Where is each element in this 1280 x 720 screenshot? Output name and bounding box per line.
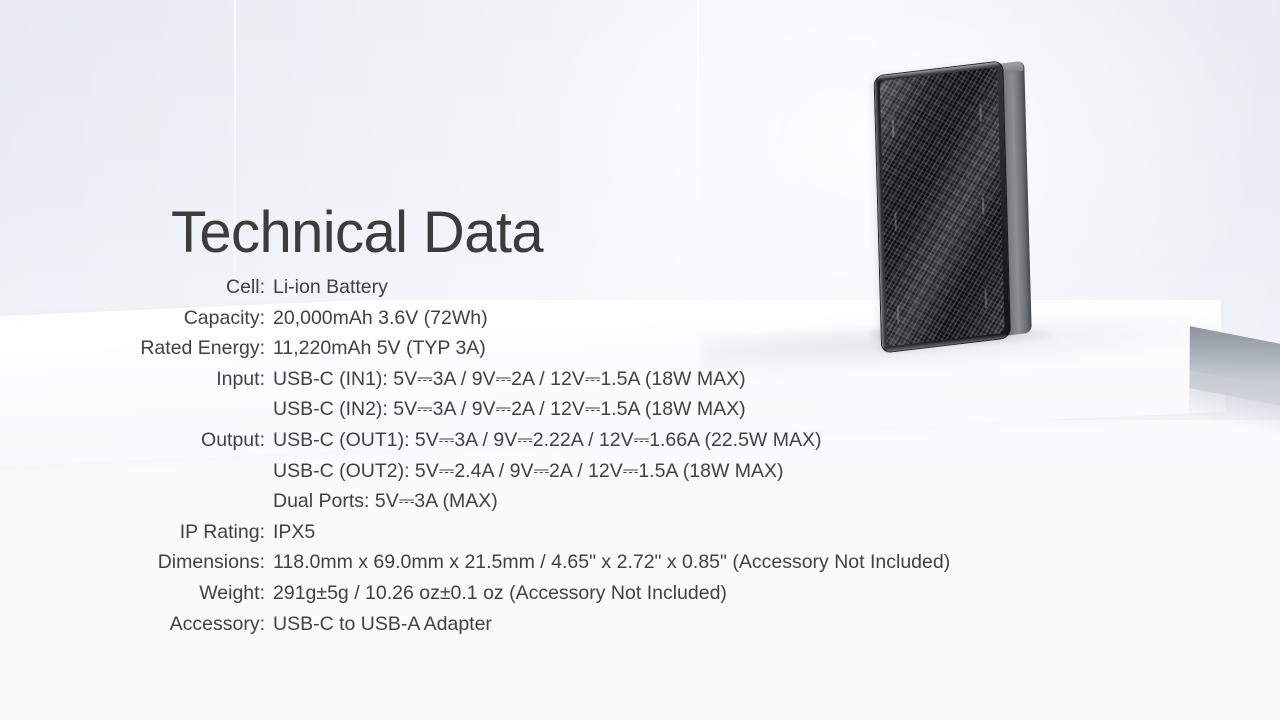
spec-label — [0, 486, 269, 517]
spec-value: 11,220mAh 5V (TYP 3A) — [269, 333, 1100, 364]
table-row: Capacity: 20,000mAh 3.6V (72Wh) — [0, 303, 1100, 334]
technical-data-rows: Cell: Li-ion Battery Capacity: 20,000mAh… — [0, 272, 1100, 639]
spec-value: Dual Ports: 5V⎓3A (MAX) — [269, 486, 1100, 517]
table-row: Output: USB-C (OUT1): 5V⎓3A / 9V⎓2.22A /… — [0, 425, 1100, 456]
spec-value: Li-ion Battery — [269, 272, 1100, 303]
table-row: Cell: Li-ion Battery — [0, 272, 1100, 303]
spec-value: USB-C (IN1): 5V⎓3A / 9V⎓2A / 12V⎓1.5A (1… — [269, 364, 1100, 395]
spec-label: Capacity: — [0, 303, 269, 334]
table-row: USB-C (OUT2): 5V⎓2.4A / 9V⎓2A / 12V⎓1.5A… — [0, 456, 1100, 487]
table-row: IP Rating: IPX5 — [0, 517, 1100, 548]
table-row: Dimensions: 118.0mm x 69.0mm x 21.5mm / … — [0, 547, 1100, 578]
table-row: Input: USB-C (IN1): 5V⎓3A / 9V⎓2A / 12V⎓… — [0, 364, 1100, 395]
spec-value: USB-C (OUT2): 5V⎓2.4A / 9V⎓2A / 12V⎓1.5A… — [269, 456, 1100, 487]
product-spec-scene: Technical Data Cell: Li-ion Battery Capa… — [0, 0, 1280, 720]
backdrop-seam-right — [697, 0, 699, 300]
spec-value: USB-C to USB-A Adapter — [269, 609, 1100, 640]
spec-label: Rated Energy: — [0, 333, 269, 364]
table-row: Accessory: USB-C to USB-A Adapter — [0, 609, 1100, 640]
spec-value: USB-C (IN2): 5V⎓3A / 9V⎓2A / 12V⎓1.5A (1… — [269, 394, 1100, 425]
spec-label: Cell: — [0, 272, 269, 303]
page-title: Technical Data — [171, 204, 543, 262]
spec-label: Output: — [0, 425, 269, 456]
table-row: USB-C (IN2): 5V⎓3A / 9V⎓2A / 12V⎓1.5A (1… — [0, 394, 1100, 425]
technical-data-table: Cell: Li-ion Battery Capacity: 20,000mAh… — [0, 272, 1100, 639]
spec-label: IP Rating: — [0, 517, 269, 548]
table-row: Weight: 291g±5g / 10.26 oz±0.1 oz (Acces… — [0, 578, 1100, 609]
spec-label: Dimensions: — [0, 547, 269, 578]
spec-value: 291g±5g / 10.26 oz±0.1 oz (Accessory Not… — [269, 578, 1100, 609]
spec-label — [0, 394, 269, 425]
spec-label — [0, 456, 269, 487]
spec-value: IPX5 — [269, 517, 1100, 548]
spec-value: 20,000mAh 3.6V (72Wh) — [269, 303, 1100, 334]
table-row: Rated Energy: 11,220mAh 5V (TYP 3A) — [0, 333, 1100, 364]
spec-label: Weight: — [0, 578, 269, 609]
spec-value: USB-C (OUT1): 5V⎓3A / 9V⎓2.22A / 12V⎓1.6… — [269, 425, 1100, 456]
spec-label: Accessory: — [0, 609, 269, 640]
spec-label: Input: — [0, 364, 269, 395]
table-row: Dual Ports: 5V⎓3A (MAX) — [0, 486, 1100, 517]
spec-value: 118.0mm x 69.0mm x 21.5mm / 4.65" x 2.72… — [269, 547, 1100, 578]
